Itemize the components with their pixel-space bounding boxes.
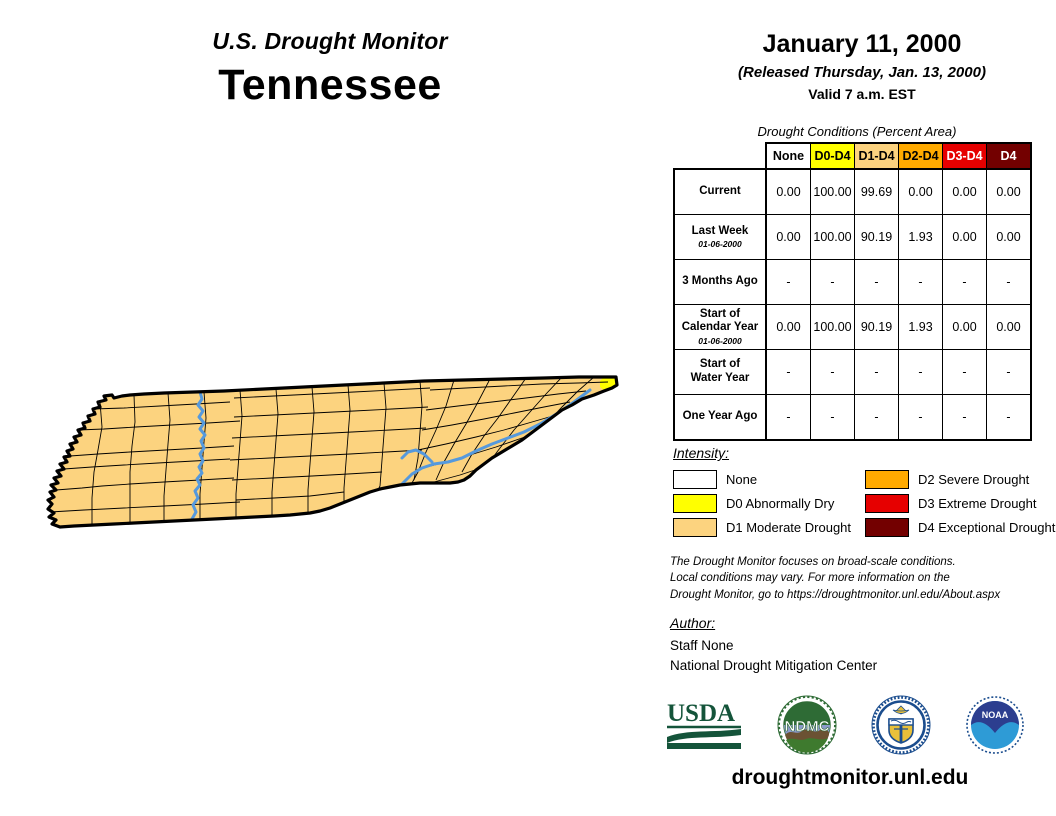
row-label-date: 01-06-2000 <box>675 239 765 249</box>
drought-conditions-table: NoneD0-D4D1-D4D2-D4D3-D4D4 Current0.0010… <box>673 142 1032 441</box>
legend-swatch-d4 <box>865 518 909 537</box>
valid-time: Valid 7 a.m. EST <box>676 86 1048 102</box>
table-cell: 0.00 <box>987 215 1032 260</box>
intensity-legend-title: Intensity: <box>673 445 729 461</box>
disclaimer-line-2: Local conditions may vary. For more info… <box>670 570 1050 586</box>
state-title: Tennessee <box>0 61 660 110</box>
table-cell: 100.00 <box>811 305 855 350</box>
legend-label-d2: D2 Severe Drought <box>918 472 1029 487</box>
legend-swatch-none <box>673 470 717 489</box>
tennessee-drought-map <box>34 372 628 544</box>
legend-label-d1: D1 Moderate Drought <box>726 520 851 535</box>
usda-logo: USDA <box>665 699 743 751</box>
table-cell: 100.00 <box>811 169 855 215</box>
table-cell: 0.00 <box>943 169 987 215</box>
legend-swatch-d0 <box>673 494 717 513</box>
disclaimer-line-3: Drought Monitor, go to https://droughtmo… <box>670 587 1050 603</box>
title-block: U.S. Drought Monitor Tennessee <box>0 28 660 110</box>
author-organization: National Drought Mitigation Center <box>670 656 877 676</box>
table-col-header-d3-d4: D3-D4 <box>943 143 987 169</box>
table-cell: - <box>987 350 1032 395</box>
table-cell: 90.19 <box>855 305 899 350</box>
site-url: droughtmonitor.unl.edu <box>665 766 1035 790</box>
table-cell: - <box>899 350 943 395</box>
table-row: One Year Ago------ <box>674 395 1031 441</box>
table-cell: - <box>855 395 899 441</box>
table-cell: 0.00 <box>766 169 811 215</box>
legend-item-d0: D0 Abnormally Dry <box>673 492 851 515</box>
legend-swatch-d1 <box>673 518 717 537</box>
legend-label-d4: D4 Exceptional Drought <box>918 520 1055 535</box>
legend-item-d3: D3 Extreme Drought <box>865 492 1055 515</box>
table-row: Current0.00100.0099.690.000.000.00 <box>674 169 1031 215</box>
header-corner-blank <box>674 143 766 169</box>
table-cell: - <box>766 350 811 395</box>
author-block: Staff None National Drought Mitigation C… <box>670 636 877 675</box>
table-caption: Drought Conditions (Percent Area) <box>676 124 1038 139</box>
doc-seal <box>871 695 931 755</box>
svg-text:NOAA: NOAA <box>982 710 1009 720</box>
table-col-header-none: None <box>766 143 811 169</box>
svg-text:USDA: USDA <box>667 700 735 727</box>
table-cell: - <box>943 350 987 395</box>
legend-label-d0: D0 Abnormally Dry <box>726 496 834 511</box>
table-cell: 0.00 <box>766 215 811 260</box>
table-cell: 100.00 <box>811 215 855 260</box>
table-cell: 90.19 <box>855 215 899 260</box>
ndmc-logo: NDMC <box>777 695 837 755</box>
table-row: Start ofWater Year------ <box>674 350 1031 395</box>
table-cell: - <box>811 260 855 305</box>
author-title: Author: <box>670 615 715 631</box>
released-date: (Released Thursday, Jan. 13, 2000) <box>676 64 1048 81</box>
table-row: Last Week01-06-20000.00100.0090.191.930.… <box>674 215 1031 260</box>
table-body: Current0.00100.0099.690.000.000.00Last W… <box>674 169 1031 440</box>
legend-label-none: None <box>726 472 757 487</box>
svg-text:NDMC: NDMC <box>785 718 830 735</box>
table-cell: 0.00 <box>943 215 987 260</box>
row-label-text: Start ofWater Year <box>691 358 750 384</box>
table-cell: - <box>855 260 899 305</box>
legend-label-d3: D3 Extreme Drought <box>918 496 1037 511</box>
row-label: Current <box>674 169 766 215</box>
row-label: 3 Months Ago <box>674 260 766 305</box>
table-cell: 0.00 <box>987 169 1032 215</box>
table-row: Start ofCalendar Year01-06-20000.00100.0… <box>674 305 1031 350</box>
table-cell: 99.69 <box>855 169 899 215</box>
row-label: Last Week01-06-2000 <box>674 215 766 260</box>
disclaimer-text: The Drought Monitor focuses on broad-sca… <box>670 554 1050 603</box>
row-label-text: Start ofCalendar Year <box>682 308 759 334</box>
map-svg <box>34 372 628 544</box>
row-label-text: Current <box>699 185 741 197</box>
table-cell: - <box>811 350 855 395</box>
table-header-row: NoneD0-D4D1-D4D2-D4D3-D4D4 <box>674 143 1031 169</box>
row-label: One Year Ago <box>674 395 766 441</box>
table-col-header-d4: D4 <box>987 143 1032 169</box>
table-cell: 0.00 <box>766 305 811 350</box>
table-cell: - <box>766 395 811 441</box>
table-row: 3 Months Ago------ <box>674 260 1031 305</box>
table-cell: 0.00 <box>899 169 943 215</box>
row-label: Start ofWater Year <box>674 350 766 395</box>
date-block: January 11, 2000 (Released Thursday, Jan… <box>676 30 1048 102</box>
table-cell: - <box>943 260 987 305</box>
program-title: U.S. Drought Monitor <box>0 28 660 55</box>
logo-row: USDA NDMC NOAA <box>665 694 1025 756</box>
row-label-date: 01-06-2000 <box>675 336 765 346</box>
table-cell: 0.00 <box>943 305 987 350</box>
row-label-text: One Year Ago <box>683 410 758 422</box>
table-col-header-d2-d4: D2-D4 <box>899 143 943 169</box>
table-cell: - <box>811 395 855 441</box>
noaa-logo: NOAA <box>965 695 1025 755</box>
legend-item-d2: D2 Severe Drought <box>865 468 1055 491</box>
disclaimer-line-1: The Drought Monitor focuses on broad-sca… <box>670 554 1050 570</box>
author-name: Staff None <box>670 636 877 656</box>
valid-date: January 11, 2000 <box>676 30 1048 59</box>
table-cell: - <box>766 260 811 305</box>
row-label-text: Last Week <box>692 225 749 237</box>
table-col-header-d0-d4: D0-D4 <box>811 143 855 169</box>
table-cell: 1.93 <box>899 305 943 350</box>
table-cell: - <box>987 260 1032 305</box>
legend-item-none: None <box>673 468 851 491</box>
table-cell: - <box>899 260 943 305</box>
table-cell: - <box>899 395 943 441</box>
table-col-header-d1-d4: D1-D4 <box>855 143 899 169</box>
intensity-legend-left-column: NoneD0 Abnormally DryD1 Moderate Drought <box>673 468 851 540</box>
table-cell: - <box>943 395 987 441</box>
table-cell: - <box>987 395 1032 441</box>
legend-swatch-d3 <box>865 494 909 513</box>
table-cell: - <box>855 350 899 395</box>
table-cell: 1.93 <box>899 215 943 260</box>
legend-item-d1: D1 Moderate Drought <box>673 516 851 539</box>
legend-swatch-d2 <box>865 470 909 489</box>
table-cell: 0.00 <box>987 305 1032 350</box>
intensity-legend-right-column: D2 Severe DroughtD3 Extreme DroughtD4 Ex… <box>865 468 1055 540</box>
row-label-text: 3 Months Ago <box>682 275 758 287</box>
row-label: Start ofCalendar Year01-06-2000 <box>674 305 766 350</box>
legend-item-d4: D4 Exceptional Drought <box>865 516 1055 539</box>
